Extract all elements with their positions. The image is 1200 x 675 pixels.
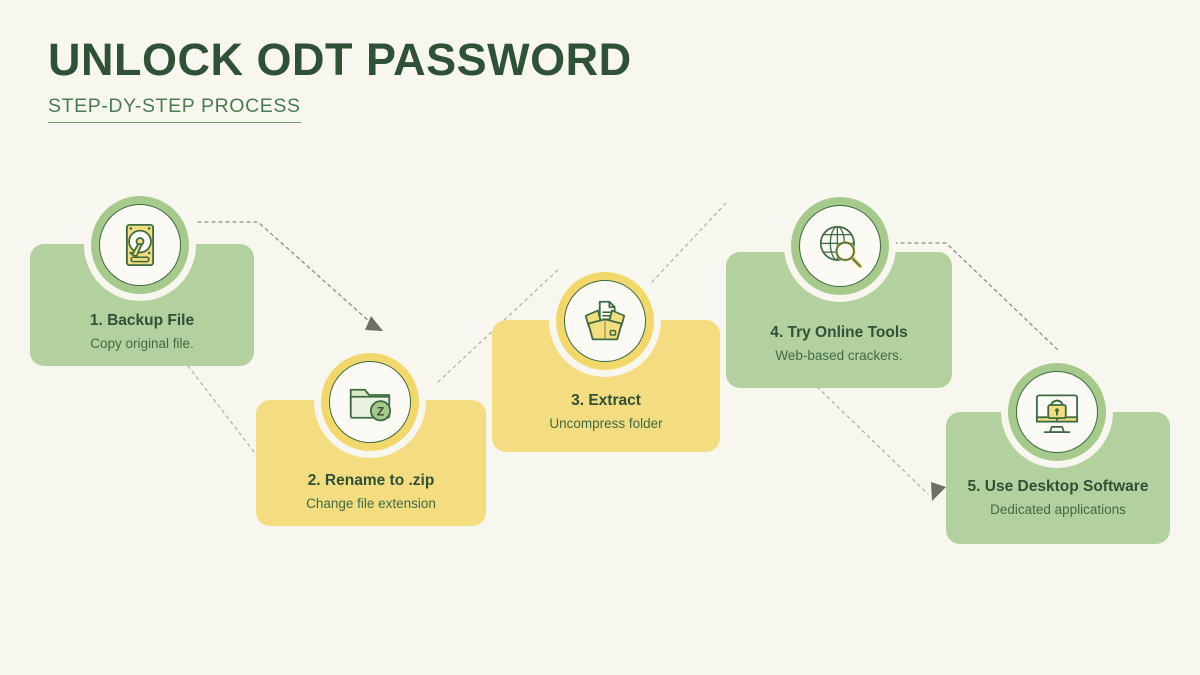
svg-text:Z: Z — [377, 405, 385, 419]
step-4-badge-inner — [799, 205, 881, 287]
step-2-title: 2. Rename to .zip — [256, 472, 486, 490]
step-4-badge[interactable] — [788, 194, 892, 298]
step-2-subtitle: Change file extension — [256, 496, 486, 511]
header: UNLOCK ODT PASSWORD STEP-DY-STEP PROCESS — [48, 36, 632, 123]
page-title: UNLOCK ODT PASSWORD — [48, 36, 632, 83]
step-3-subtitle: Uncompress folder — [492, 416, 720, 431]
connector-3-to-4 — [652, 203, 726, 282]
step-1-badge-inner — [99, 204, 181, 286]
monitor-lock-icon — [1029, 384, 1085, 440]
step-1-title: 1. Backup File — [30, 312, 254, 330]
globe-magnifier-icon — [812, 218, 868, 274]
step-5-badge[interactable] — [1005, 360, 1109, 464]
step-3-badge-inner — [564, 280, 646, 362]
step-3-title: 3. Extract — [492, 392, 720, 410]
open-box-document-icon — [577, 293, 633, 349]
step-5-subtitle: Dedicated applications — [946, 502, 1170, 517]
step-5-badge-inner — [1016, 371, 1098, 453]
step-2-badge-inner: Z — [329, 361, 411, 443]
step-2-badge[interactable]: Z — [318, 350, 422, 454]
connector-1-to-2-arrowhead — [365, 316, 383, 331]
step-1-badge[interactable] — [88, 193, 192, 297]
step-3-badge[interactable] — [553, 269, 657, 373]
connector-tail-into-step5 — [812, 382, 928, 494]
step-1-subtitle: Copy original file. — [30, 336, 254, 351]
step-4-title: 4. Try Online Tools — [726, 324, 952, 342]
step-4-subtitle: Web-based crackers. — [726, 348, 952, 363]
step-5-title: 5. Use Desktop Software — [946, 478, 1170, 496]
page-subtitle: STEP-DY-STEP PROCESS — [48, 95, 301, 123]
infographic-canvas: UNLOCK ODT PASSWORD STEP-DY-STEP PROCESS… — [0, 0, 1200, 675]
hard-drive-icon — [112, 217, 168, 273]
zip-folder-icon: Z — [342, 374, 398, 430]
connector-step5-arrowhead — [931, 482, 946, 501]
